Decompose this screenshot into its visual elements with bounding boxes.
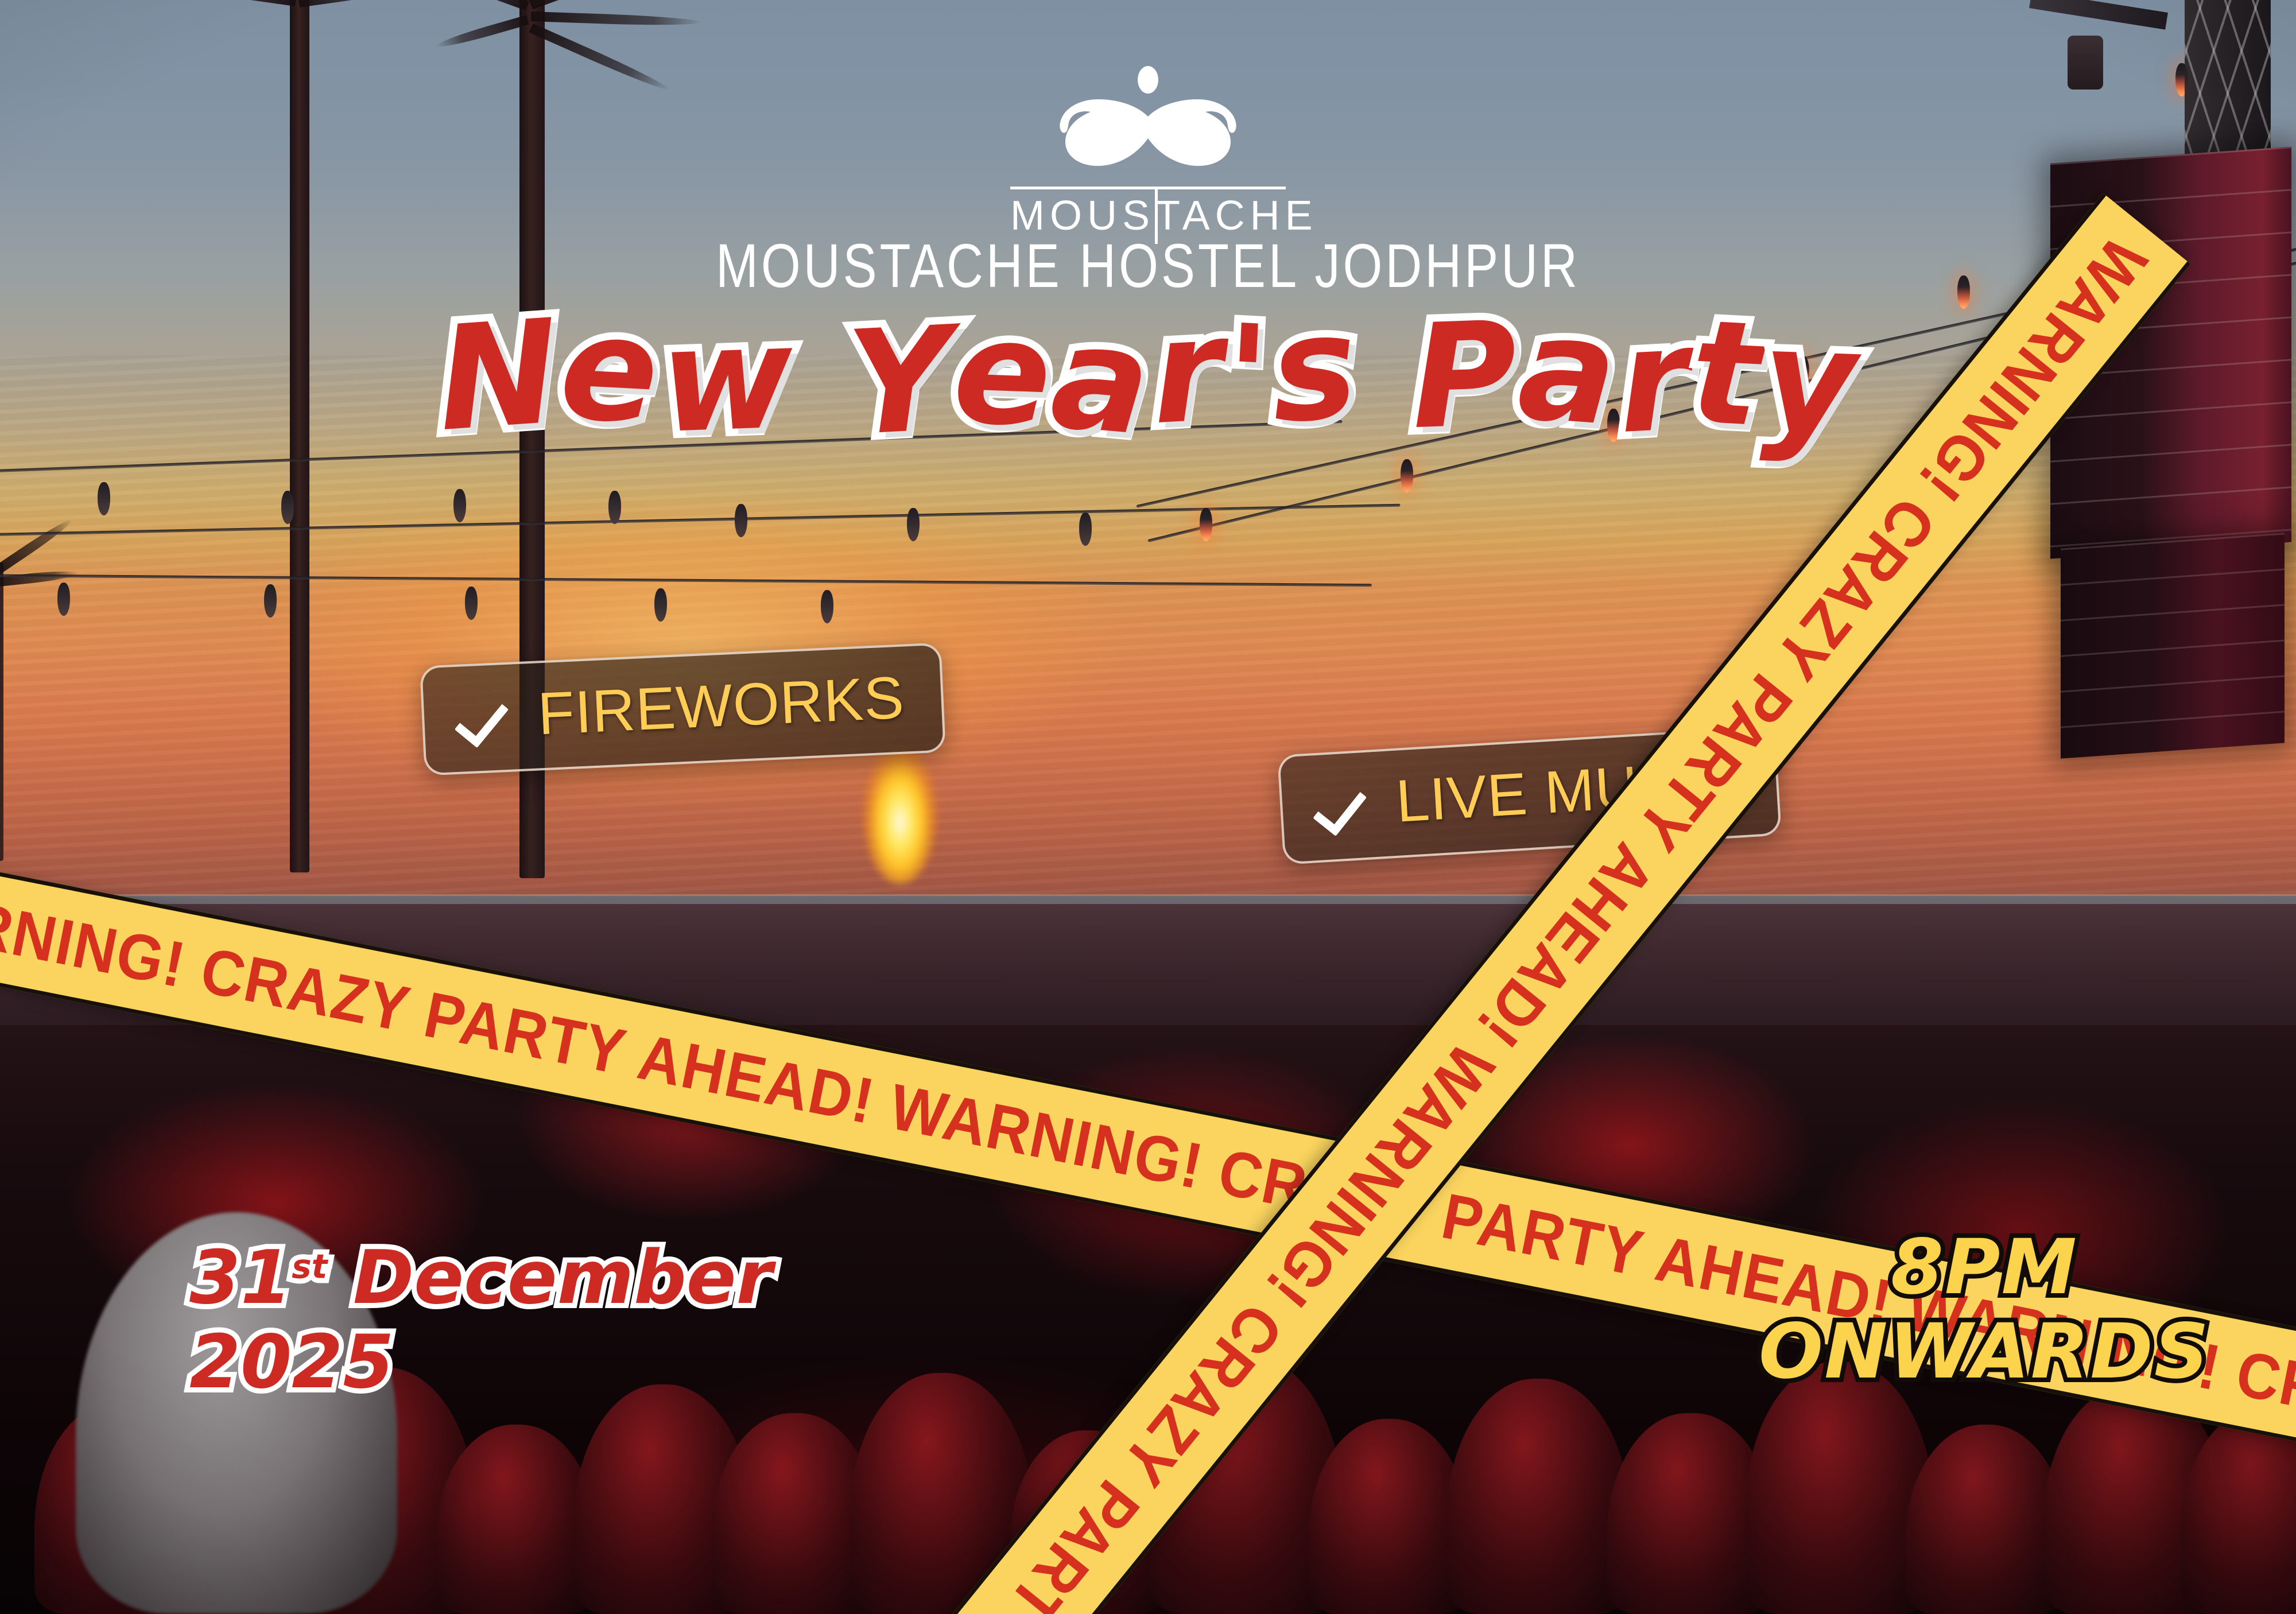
light-bulb: [1401, 459, 1413, 492]
light-wire: [0, 574, 1372, 587]
title-char: P: [1409, 302, 1522, 449]
title-char: e: [557, 296, 664, 445]
event-date: 31st December 2025: [189, 1240, 773, 1400]
check-icon: [1311, 778, 1367, 833]
title-char: r: [1148, 298, 1228, 445]
moustache-icon: [1022, 97, 1274, 183]
event-date-month: December: [353, 1235, 773, 1321]
event-time-secondary: ONWARDS: [1759, 1313, 2210, 1391]
page-title: New Year's Party: [438, 304, 1858, 448]
stage-flare: [863, 746, 937, 884]
crowd-head: [1446, 1379, 1630, 1614]
light-bulb: [1957, 276, 1970, 309]
light-bulb: [654, 588, 667, 622]
light-bulb: [57, 583, 70, 616]
logo-dot-icon: [1138, 66, 1158, 94]
speaker-stack-lower: [2061, 533, 2285, 758]
title-char: r: [1615, 307, 1695, 454]
title-char: a: [1514, 296, 1623, 446]
event-time-primary: 8PM: [1891, 1223, 2078, 1312]
title-char: w: [658, 305, 798, 453]
light-bulb: [1200, 508, 1212, 541]
title-char: [1356, 306, 1414, 452]
event-date-day: 31: [189, 1235, 292, 1321]
title-char: ': [1221, 305, 1275, 451]
title-char: t: [1688, 300, 1766, 447]
title-char: y: [1759, 308, 1860, 455]
light-bulb: [98, 482, 110, 515]
new-years-party-poster: MOUSTACHE MOUSTACHE HOSTEL JODHPUR New Y…: [0, 0, 2296, 1614]
crowd-head: [1906, 1425, 2066, 1614]
title-char: s: [1266, 294, 1364, 444]
light-bulb: [608, 491, 621, 524]
event-date-suffix: st: [292, 1247, 327, 1286]
moustache-logo: MOUSTACHE: [987, 66, 1309, 244]
stage-lamp: [2068, 36, 2103, 90]
light-bulb: [453, 489, 466, 522]
logo-rule: [1010, 187, 1286, 189]
light-bulb: [264, 584, 277, 618]
title-char: Y: [844, 307, 957, 456]
light-bulb: [281, 491, 294, 524]
event-time: 8PM ONWARDS: [1759, 1228, 2210, 1392]
light-bulb: [907, 508, 920, 541]
feature-badge-label: FIREWORKS: [536, 664, 906, 749]
check-icon: [453, 689, 508, 744]
light-bulb: [735, 504, 747, 537]
title-char: N: [433, 300, 565, 452]
event-date-year: 2025: [189, 1324, 773, 1400]
light-bulb: [465, 587, 478, 620]
light-bulb: [821, 590, 833, 623]
title-char: e: [951, 300, 1056, 447]
title-char: [790, 299, 852, 446]
light-bulb: [1079, 513, 1092, 546]
title-char: a: [1046, 305, 1158, 456]
